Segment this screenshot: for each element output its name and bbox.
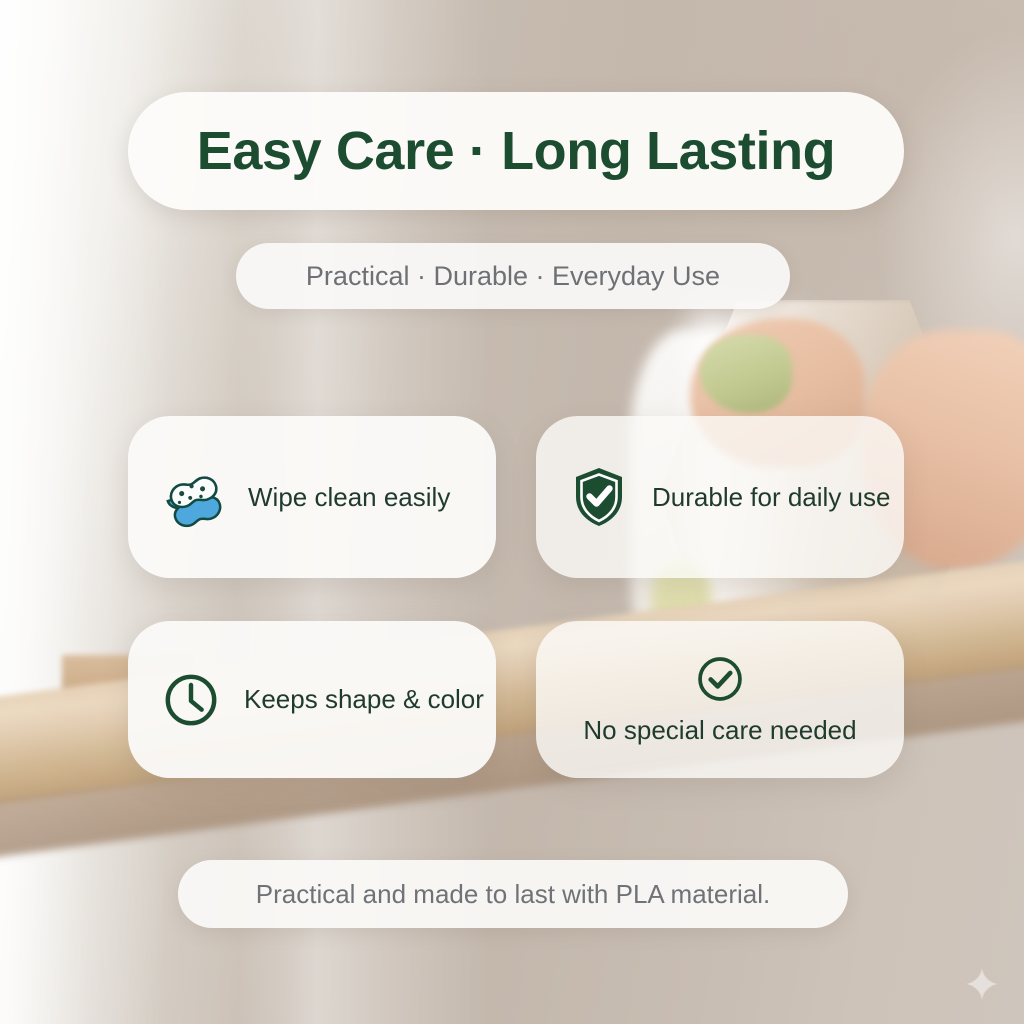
feature-label: Wipe clean easily bbox=[248, 482, 450, 513]
shield-check-icon bbox=[570, 466, 628, 528]
footer-pill: Practical and made to last with PLA mate… bbox=[178, 860, 848, 928]
sparkle-icon bbox=[964, 966, 1000, 1002]
feature-label: Keeps shape & color bbox=[244, 684, 484, 715]
page-title: Easy Care · Long Lasting bbox=[197, 120, 836, 182]
sponge-icon bbox=[162, 466, 224, 528]
feature-label: Durable for daily use bbox=[652, 482, 890, 513]
title-pill: Easy Care · Long Lasting bbox=[128, 92, 904, 210]
page-subtitle: Practical · Durable · Everyday Use bbox=[306, 261, 720, 292]
clock-icon bbox=[162, 671, 220, 729]
feature-card-keeps-shape[interactable]: Keeps shape & color bbox=[128, 621, 496, 778]
check-circle-icon bbox=[694, 653, 746, 705]
feature-grid: Wipe clean easily Durable for daily use bbox=[128, 416, 904, 778]
footer-note: Practical and made to last with PLA mate… bbox=[256, 879, 770, 910]
subtitle-pill: Practical · Durable · Everyday Use bbox=[236, 243, 790, 309]
feature-card-wipe-clean[interactable]: Wipe clean easily bbox=[128, 416, 496, 578]
feature-card-no-special-care[interactable]: No special care needed bbox=[536, 621, 904, 778]
feature-card-durable[interactable]: Durable for daily use bbox=[536, 416, 904, 578]
promo-graphic: Easy Care · Long Lasting Practical · Dur… bbox=[0, 0, 1024, 1024]
feature-label: No special care needed bbox=[583, 715, 856, 746]
